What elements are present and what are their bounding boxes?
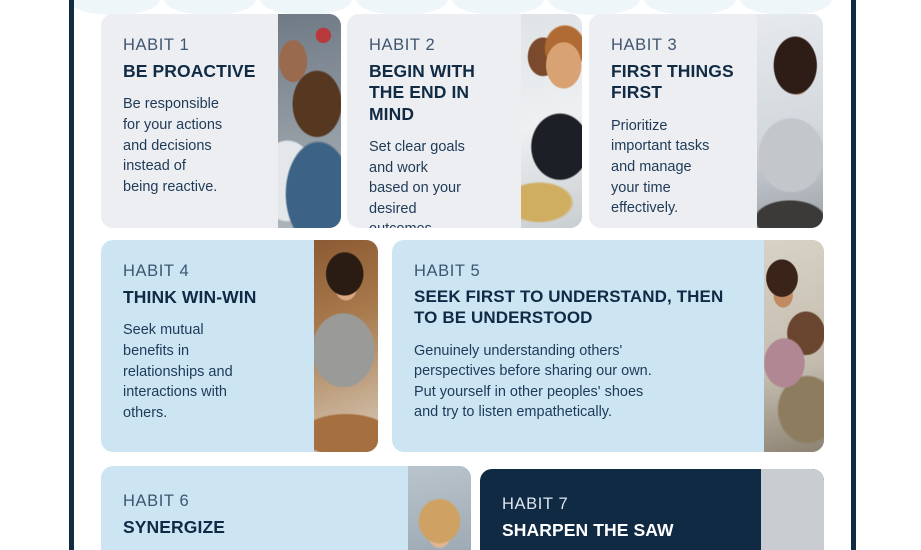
- habit-card-7[interactable]: HABIT 7 SHARPEN THE SAW: [480, 469, 824, 550]
- habit-card-6[interactable]: HABIT 6 SYNERGIZE Value differences and …: [101, 466, 471, 550]
- habit-card-2-body: HABIT 2 BEGIN WITH THE END IN MIND Set c…: [347, 14, 521, 228]
- habit-card-6-title: SYNERGIZE: [123, 517, 390, 538]
- habit-card-3-title: FIRST THINGS FIRST: [611, 61, 739, 104]
- habit-card-4-photo: [314, 240, 378, 452]
- habit-card-4-description: Seek mutual benefits in relationships an…: [123, 320, 296, 423]
- habit-card-4-title: THINK WIN-WIN: [123, 287, 296, 308]
- habit-card-1[interactable]: HABIT 1 BE PROACTIVE Be responsible for …: [101, 14, 341, 228]
- habit-card-5[interactable]: HABIT 5 SEEK FIRST TO UNDERSTAND, THEN T…: [392, 240, 824, 452]
- habit-card-1-description: Be responsible for your actions and deci…: [123, 94, 260, 197]
- habit-card-2-photo: [521, 14, 582, 228]
- habit-card-2-title: BEGIN WITH THE END IN MIND: [369, 61, 503, 125]
- habit-card-1-title: BE PROACTIVE: [123, 61, 260, 82]
- habit-card-6-kicker: HABIT 6: [123, 492, 390, 510]
- habit-card-5-body: HABIT 5 SEEK FIRST TO UNDERSTAND, THEN T…: [392, 240, 764, 452]
- habit-card-7-kicker: HABIT 7: [502, 495, 743, 513]
- habit-card-5-description: Genuinely understanding others' perspect…: [414, 341, 746, 423]
- habit-card-2-description: Set clear goals and work based on your d…: [369, 137, 503, 228]
- habit-card-4-kicker: HABIT 4: [123, 262, 296, 280]
- habit-card-3-photo: [757, 14, 823, 228]
- habit-card-1-photo: [278, 14, 341, 228]
- poster-page: HABIT 1 BE PROACTIVE Be responsible for …: [0, 0, 921, 550]
- habit-card-3[interactable]: HABIT 3 FIRST THINGS FIRST Prioritize im…: [589, 14, 823, 228]
- habit-card-3-body: HABIT 3 FIRST THINGS FIRST Prioritize im…: [589, 14, 757, 228]
- habit-card-3-description: Prioritize important tasks and manage yo…: [611, 116, 739, 219]
- habit-card-5-title: SEEK FIRST TO UNDERSTAND, THEN TO BE UND…: [414, 287, 746, 328]
- habit-card-6-body: HABIT 6 SYNERGIZE Value differences and …: [101, 466, 408, 550]
- habit-card-1-kicker: HABIT 1: [123, 36, 260, 54]
- page-frame-rule-right: [851, 0, 856, 550]
- habit-card-6-photo: [408, 466, 471, 550]
- habit-card-7-title: SHARPEN THE SAW: [502, 520, 743, 541]
- habit-card-2-kicker: HABIT 2: [369, 36, 503, 54]
- habit-card-3-kicker: HABIT 3: [611, 36, 739, 54]
- habit-card-7-photo: [761, 469, 824, 550]
- habit-card-4[interactable]: HABIT 4 THINK WIN-WIN Seek mutual benefi…: [101, 240, 378, 452]
- habit-card-4-body: HABIT 4 THINK WIN-WIN Seek mutual benefi…: [101, 240, 314, 452]
- page-frame-rule-left: [69, 0, 74, 550]
- habit-card-2[interactable]: HABIT 2 BEGIN WITH THE END IN MIND Set c…: [347, 14, 582, 228]
- habit-card-1-body: HABIT 1 BE PROACTIVE Be responsible for …: [101, 14, 278, 228]
- habit-card-5-kicker: HABIT 5: [414, 262, 746, 280]
- habit-card-7-body: HABIT 7 SHARPEN THE SAW: [480, 469, 761, 550]
- habit-card-5-photo: [764, 240, 824, 452]
